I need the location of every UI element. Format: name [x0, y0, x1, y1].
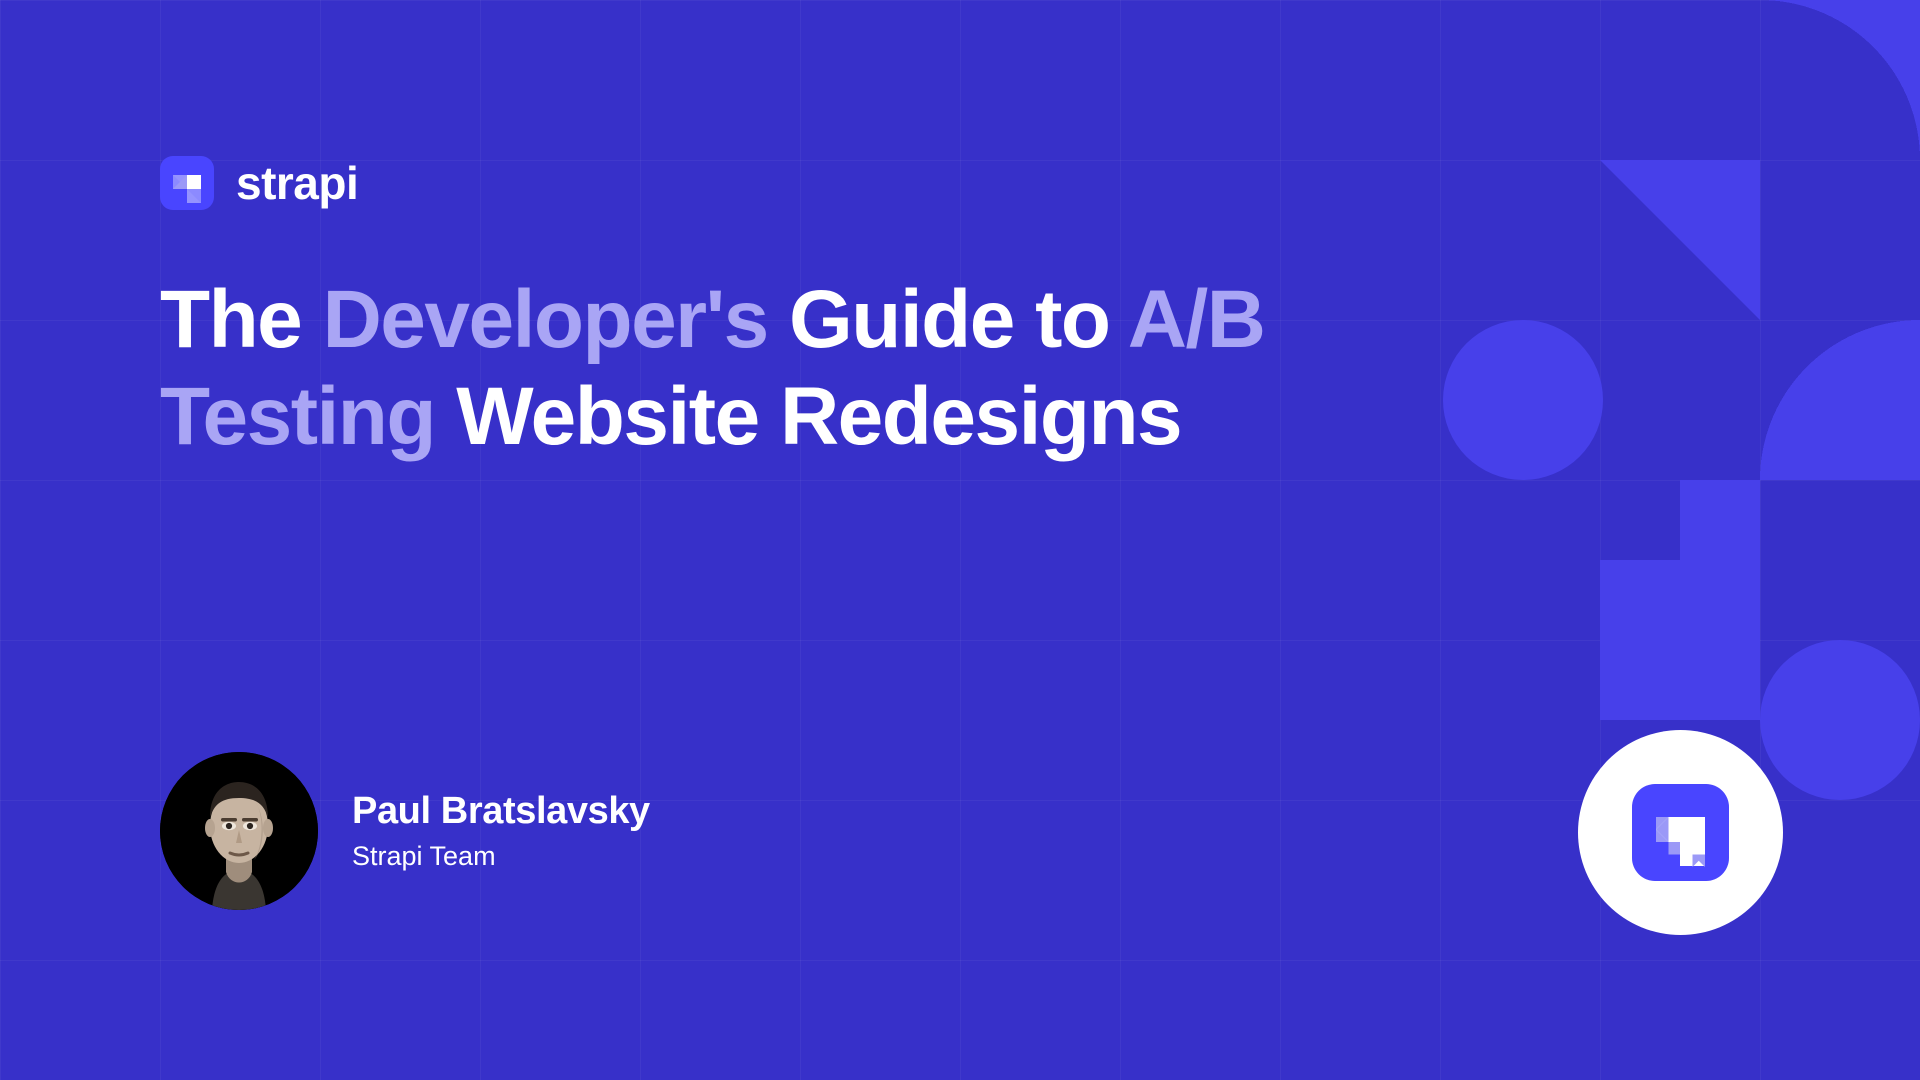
page-title: The Developer's Guide to A/B Testing Web… — [160, 272, 1480, 466]
strapi-badge — [1578, 730, 1783, 935]
title-segment-5: Website Redesigns — [456, 371, 1181, 462]
title-segment-2: Developer's — [323, 274, 789, 365]
strapi-logo-icon — [1632, 784, 1729, 881]
brand-logo[interactable]: strapi — [160, 156, 358, 210]
author-name: Paul Bratslavsky — [352, 790, 650, 834]
decor-step-block-upper — [1680, 480, 1760, 560]
decor-quarter-disc — [1760, 320, 1920, 480]
title-segment-1: The — [160, 274, 323, 365]
brand-name: strapi — [236, 160, 358, 206]
social-share-card: strapi The Developer's Guide to A/B Test… — [0, 0, 1920, 1080]
title-segment-3: Guide to — [789, 274, 1128, 365]
strapi-logo-icon — [160, 156, 214, 210]
decor-circle-bottom-right — [1760, 640, 1920, 800]
author-block: Paul Bratslavsky Strapi Team — [160, 752, 650, 910]
decor-triangle — [1600, 160, 1760, 320]
decor-quarter-circle-top-right — [1760, 0, 1920, 160]
author-role: Strapi Team — [352, 841, 650, 872]
avatar — [160, 752, 318, 910]
decor-step-block-lower — [1600, 560, 1760, 720]
author-text: Paul Bratslavsky Strapi Team — [352, 790, 650, 873]
